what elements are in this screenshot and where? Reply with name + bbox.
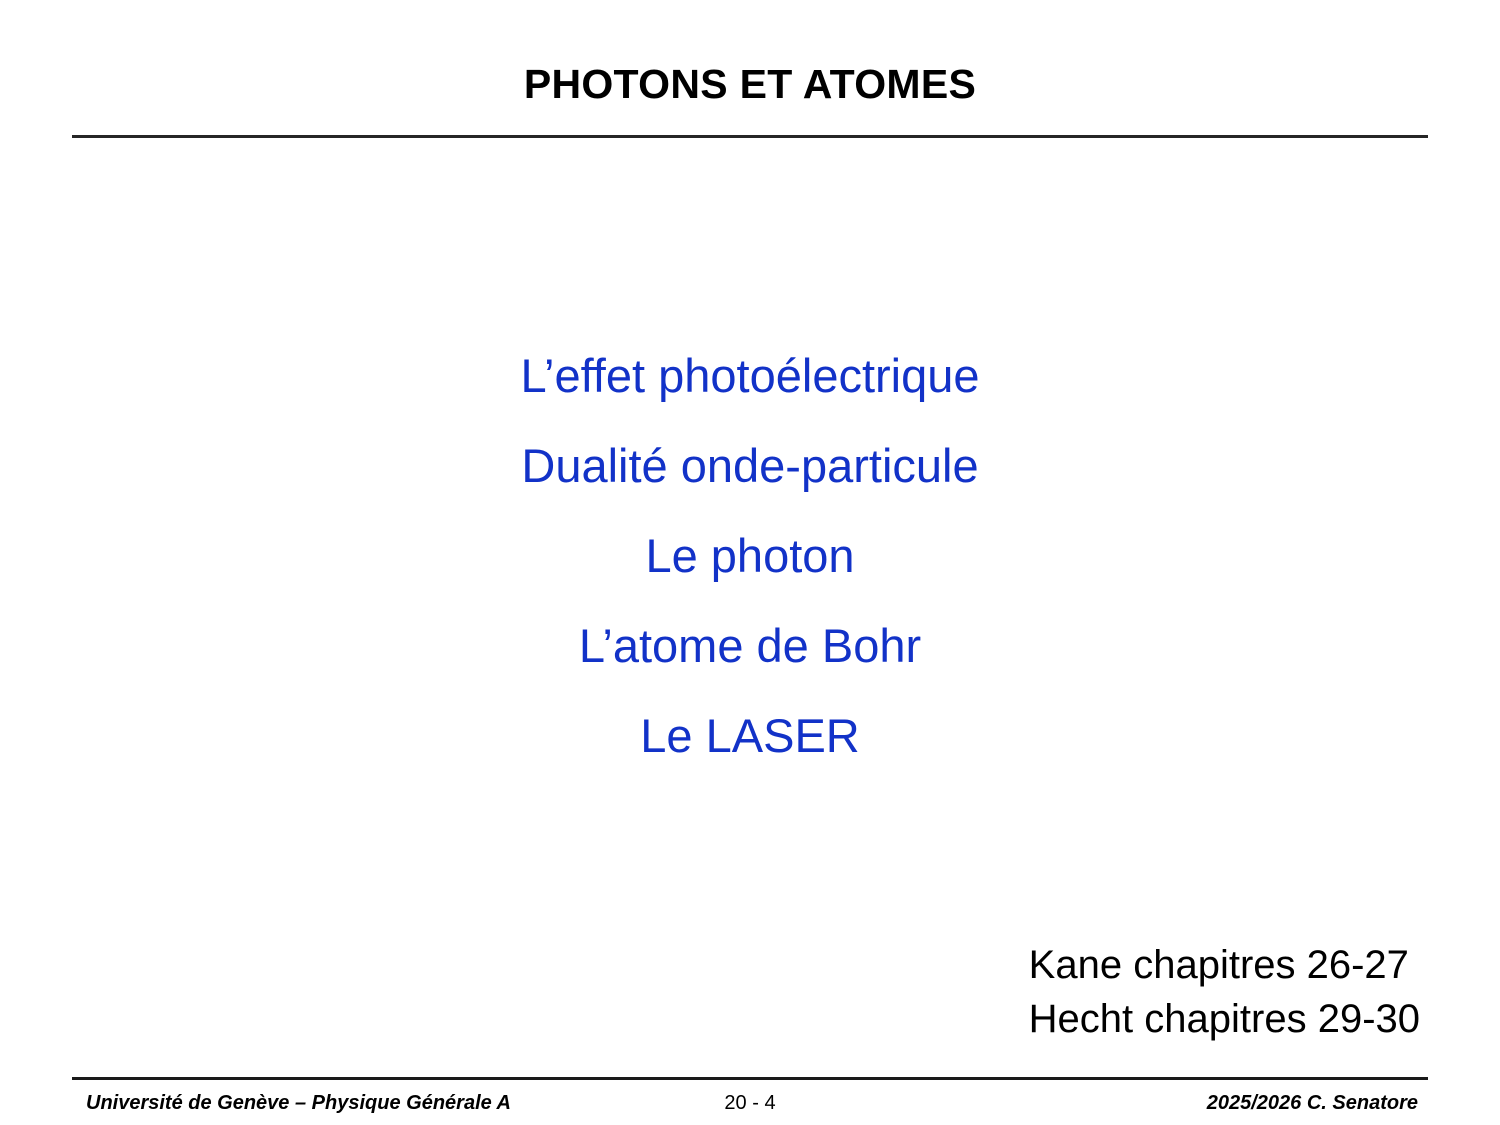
topic-item-laser: Le LASER: [72, 712, 1428, 759]
title-divider: [72, 135, 1428, 138]
reference-line-hecht: Hecht chapitres 29-30: [1029, 992, 1420, 1046]
slide-canvas: PHOTONS ET ATOMES L’effet photoélectriqu…: [0, 0, 1500, 1125]
reference-block: Kane chapitres 26-27 Hecht chapitres 29-…: [1029, 938, 1420, 1047]
topic-item-wave-particle-duality: Dualité onde-particule: [72, 442, 1428, 489]
topic-list: L’effet photoélectrique Dualité onde-par…: [72, 352, 1428, 759]
page-title: PHOTONS ET ATOMES: [72, 62, 1428, 107]
footer-divider: [72, 1077, 1428, 1080]
topic-item-photon: Le photon: [72, 532, 1428, 579]
reference-line-kane: Kane chapitres 26-27: [1029, 938, 1420, 992]
footer: Université de Genève – Physique Générale…: [72, 1088, 1428, 1125]
topic-item-photoelectric-effect: L’effet photoélectrique: [72, 352, 1428, 399]
footer-author: 2025/2026 C. Senatore: [1207, 1092, 1418, 1115]
topic-item-bohr-atom: L’atome de Bohr: [72, 622, 1428, 669]
